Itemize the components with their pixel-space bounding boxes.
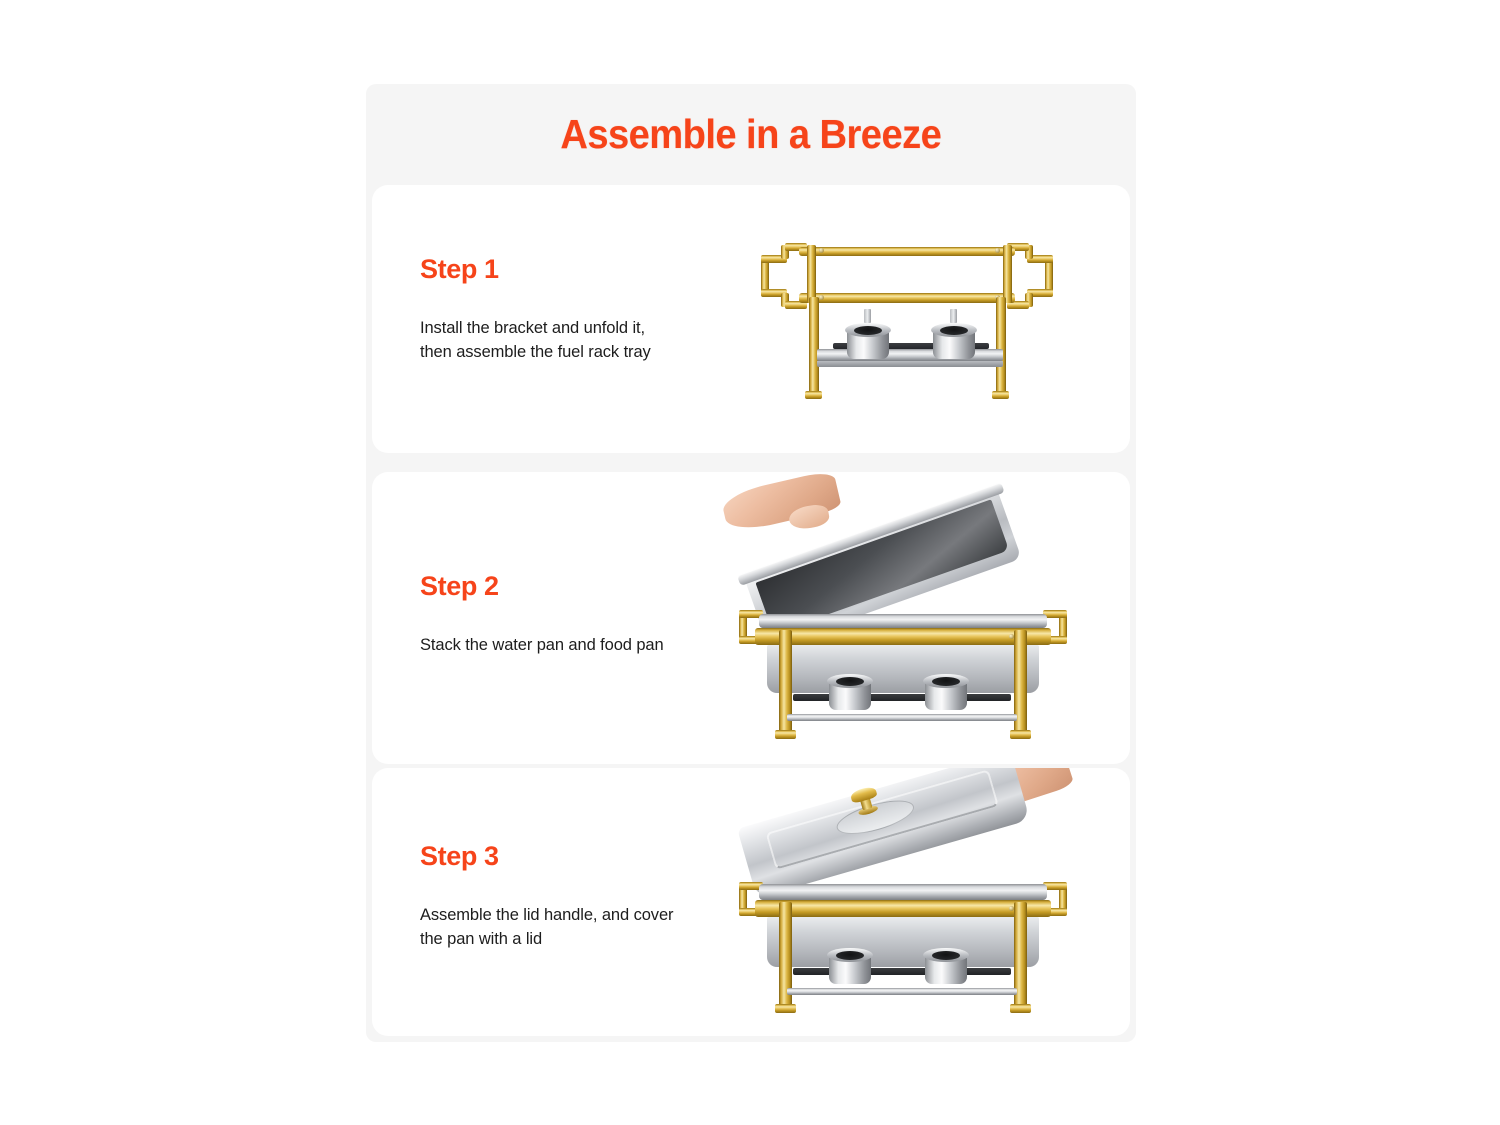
leg-foot-left xyxy=(775,1004,796,1013)
step-card-3: Step 3 Assemble the lid handle, and cove… xyxy=(372,768,1130,1036)
fuel-holder-left xyxy=(847,319,889,359)
fuel-holder-right xyxy=(925,670,967,710)
step-2-description: Stack the water pan and food pan xyxy=(420,634,717,658)
step-2-text: Step 2 Stack the water pan and food pan xyxy=(372,472,717,764)
step-1-label: Step 1 xyxy=(420,256,717,283)
leg-foot-right xyxy=(1010,1004,1031,1013)
product-infographic-page: Assemble in a Breeze Step 1 Install the … xyxy=(0,0,1500,1125)
frame-leg-left xyxy=(809,297,819,393)
stack-pans-illustration xyxy=(733,480,1073,756)
frame-bolt xyxy=(995,248,1000,253)
step-3-description: Assemble the lid handle, and cover the p… xyxy=(420,904,717,952)
fuel-rack-rail xyxy=(787,714,1017,721)
step-card-1: Step 1 Install the bracket and unfold it… xyxy=(372,185,1130,453)
frame-leg-right xyxy=(996,297,1006,393)
fuel-holder-left xyxy=(829,944,871,984)
hand xyxy=(733,480,853,540)
infographic-panel: Assemble in a Breeze Step 1 Install the … xyxy=(366,84,1136,1042)
step-1-description: Install the bracket and unfold it, then … xyxy=(420,317,717,365)
water-pan-body xyxy=(767,917,1039,967)
cover-lid-illustration xyxy=(733,770,1077,1036)
step-2-image xyxy=(717,472,1130,764)
step-1-text: Step 1 Install the bracket and unfold it… xyxy=(372,185,717,453)
frame-post-left xyxy=(807,245,816,303)
leg-foot-right xyxy=(1010,730,1031,739)
header: Assemble in a Breeze xyxy=(366,84,1136,185)
gold-rim-band xyxy=(755,628,1051,645)
fuel-rack-tray-lip xyxy=(817,361,1003,367)
fuel-holder-right xyxy=(925,944,967,984)
lid xyxy=(737,768,1030,898)
step-3-text: Step 3 Assemble the lid handle, and cove… xyxy=(372,768,717,1036)
frame-top-rail xyxy=(799,247,1015,256)
water-pan-body xyxy=(767,645,1039,693)
support-bar xyxy=(793,968,1011,975)
support-bar xyxy=(793,694,1011,701)
base-assembly xyxy=(741,608,1065,756)
step-3-image xyxy=(717,768,1130,1036)
fuel-rack-tray xyxy=(817,349,1003,361)
fuel-holder-right xyxy=(933,319,975,359)
step-1-image xyxy=(717,185,1130,453)
page-title: Assemble in a Breeze xyxy=(561,111,942,158)
frame-foot-right xyxy=(992,391,1009,399)
frame-bolt xyxy=(819,295,824,300)
step-2-label: Step 2 xyxy=(420,573,717,600)
frame-bolt xyxy=(819,248,824,253)
fuel-rack-rail xyxy=(787,988,1017,995)
base-assembly xyxy=(741,882,1065,1032)
leg-foot-left xyxy=(775,730,796,739)
frame-mid-rail xyxy=(799,293,1015,303)
step-card-2: Step 2 Stack the water pan and food pan xyxy=(372,472,1130,764)
frame-foot-left xyxy=(805,391,822,399)
step-3-label: Step 3 xyxy=(420,843,717,870)
food-pan-lip xyxy=(759,884,1047,900)
gold-rim-band xyxy=(755,900,1051,917)
fuel-holder-left xyxy=(829,670,871,710)
water-pan-lip xyxy=(759,614,1047,628)
frame-post-right xyxy=(1003,245,1012,303)
gold-frame-illustration xyxy=(747,231,1067,421)
